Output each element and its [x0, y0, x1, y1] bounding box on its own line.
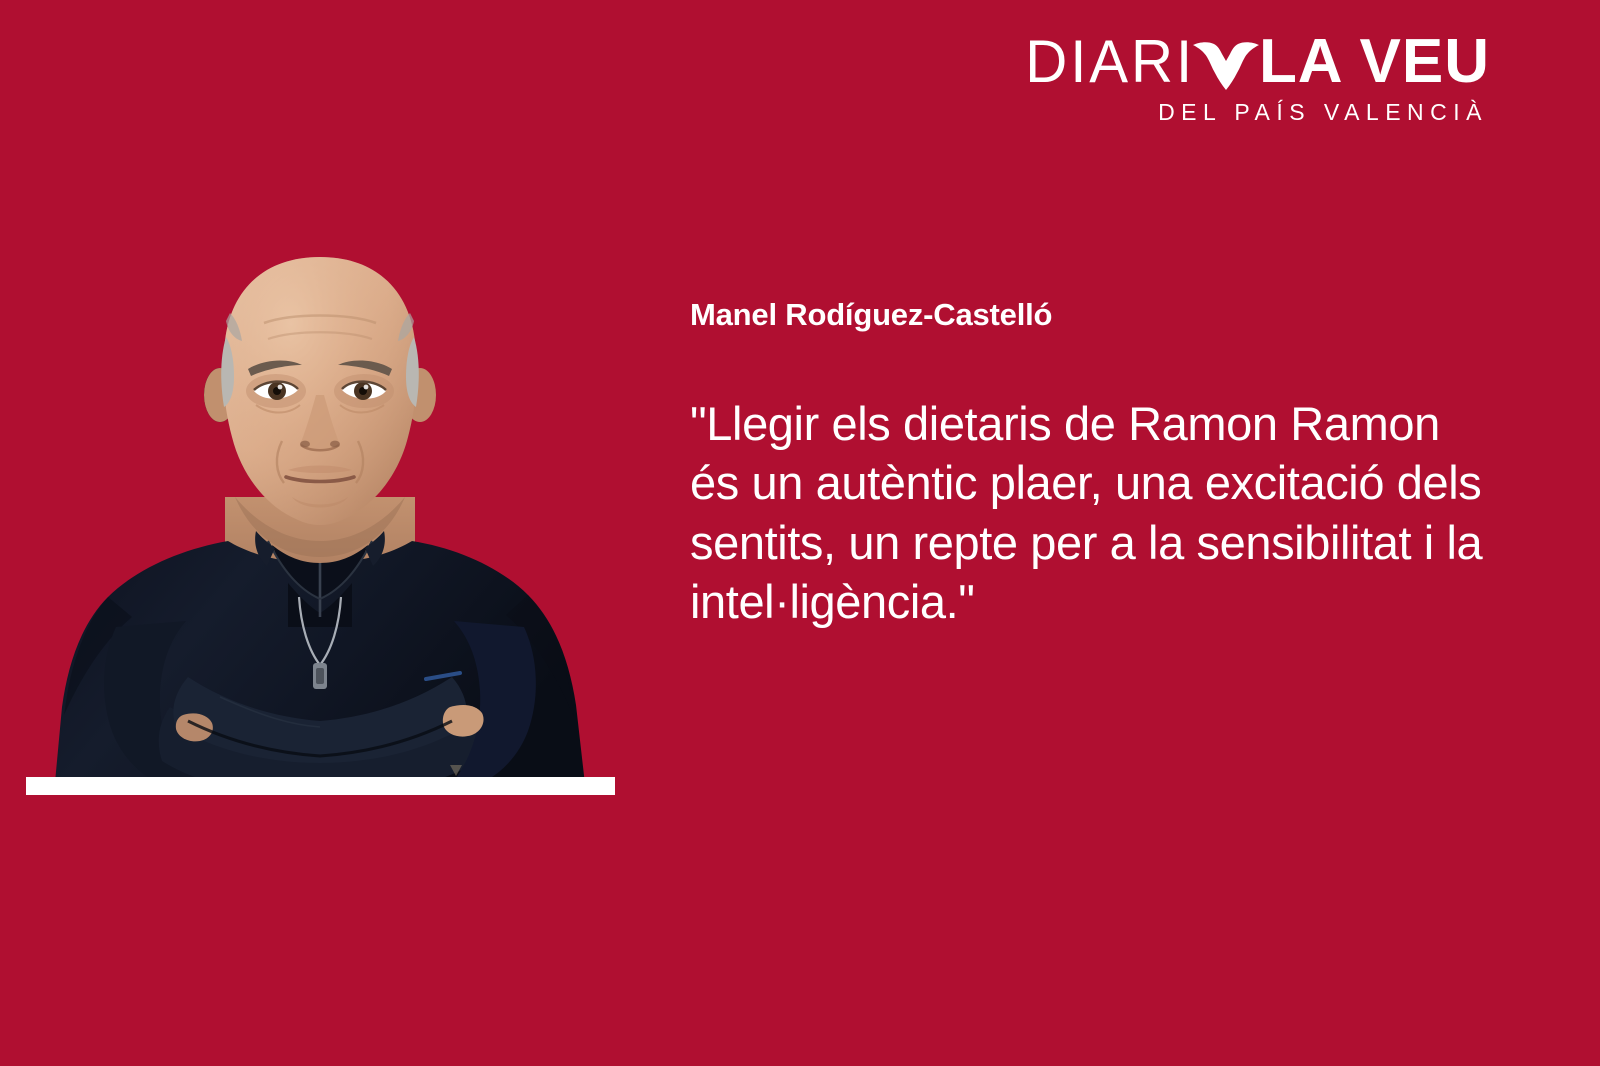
underline-bar [26, 777, 615, 795]
quote-card: DIARI LA VEU DEL PAÍS VALENCIÀ [0, 0, 1600, 1066]
logo-wordmark: DIARI LA VEU [990, 32, 1490, 92]
quote-text-block: Manel Rodíguez-Castelló "Llegir els diet… [690, 298, 1490, 631]
logo-word-laveu: LA VEU [1259, 31, 1490, 93]
portrait-photo [20, 245, 620, 793]
author-name: Manel Rodíguez-Castelló [690, 298, 1490, 332]
logo-word-diari: DIARI [1025, 32, 1195, 92]
quote-body: "Llegir els dietaris de Ramon Ramon és u… [690, 394, 1490, 631]
bird-icon [1189, 37, 1263, 93]
site-logo[interactable]: DIARI LA VEU DEL PAÍS VALENCIÀ [990, 32, 1490, 128]
portrait-figure [20, 245, 620, 793]
logo-tagline: DEL PAÍS VALENCIÀ [990, 99, 1490, 126]
